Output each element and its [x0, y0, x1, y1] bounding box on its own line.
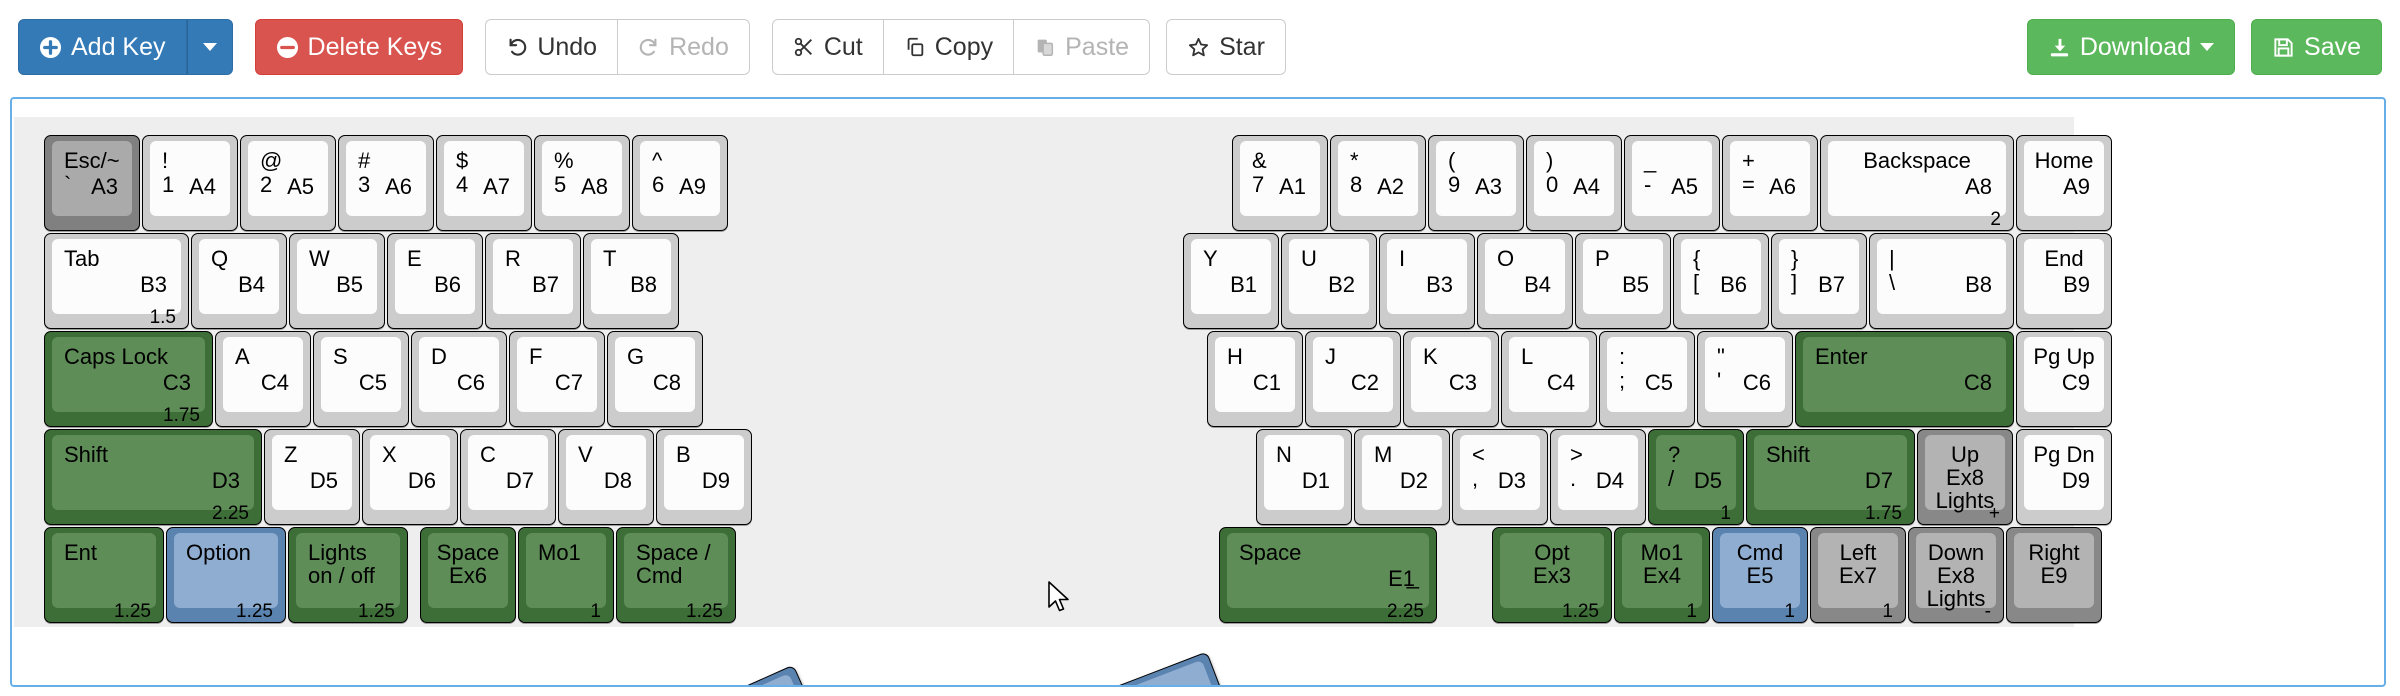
key-legend-top-left: W [309, 247, 330, 270]
keyboard-key[interactable]: )0A4 [1526, 135, 1622, 231]
key-legend-top-left: A [235, 345, 250, 368]
key-top-surface: ^6A9 [640, 141, 720, 216]
key-legend-top-left: : [1619, 345, 1625, 368]
key-legend-top-left: N [1276, 443, 1292, 466]
key-legend-position-code: B6 [1720, 273, 1747, 296]
key-legend-position-code: B5 [1622, 273, 1649, 296]
key-legend-top-left: E [407, 247, 422, 270]
key-legend-position-code: B8 [630, 273, 657, 296]
key-legend-top-left: K [1423, 345, 1438, 368]
keyboard-key[interactable]: UB2 [1281, 233, 1377, 329]
keyboard-key[interactable]: CD7 [460, 429, 556, 525]
key-legend-position-code: D6 [408, 469, 436, 492]
key-legend-bottom-left: / [1668, 467, 1674, 490]
keyboard-key[interactable]: (9A3 [1428, 135, 1524, 231]
star-label: Star [1219, 35, 1265, 60]
add-key-label: Add Key [71, 35, 166, 60]
key-top-surface: KC3 [1411, 337, 1491, 412]
copy-button[interactable]: Copy [883, 19, 1014, 75]
paste-button[interactable]: Paste [1013, 19, 1150, 75]
key-top-surface: Lights on / off [296, 533, 400, 608]
keyboard-key[interactable]: Lights on / off1.25 [288, 527, 408, 623]
key-top-surface: Space / Cmd [624, 533, 728, 608]
key-legend-position-code: B4 [238, 273, 265, 296]
keyboard-key[interactable]: AC4 [215, 331, 311, 427]
keyboard-key[interactable]: JC2 [1305, 331, 1401, 427]
key-legend-top-left: Caps Lock [64, 345, 168, 368]
key-top-surface: WB5 [297, 239, 377, 314]
key-legend-position-code: D3 [212, 469, 240, 492]
keyboard-key[interactable]: Esc/~`A3 [44, 135, 140, 231]
minus-circle-icon [276, 36, 299, 59]
key-legend-top-left: B [676, 443, 691, 466]
key-top-surface [697, 673, 819, 687]
keyboard-key[interactable]: Mo11 [518, 527, 614, 623]
keyboard-key[interactable]: Left Ex71 [1810, 527, 1906, 623]
keyboard-key[interactable]: OB4 [1477, 233, 1573, 329]
key-legend-top-left: L [1521, 345, 1533, 368]
key-legend-bottom-left: 1 [162, 173, 174, 196]
keyboard-key[interactable]: Opt Ex31.25 [1492, 527, 1612, 623]
key-legend-position-code: C6 [457, 371, 485, 394]
keyboard-key[interactable]: YB1 [1183, 233, 1279, 329]
key-top-surface: }]B7 [1779, 239, 1859, 314]
key-legend-position-code: A4 [189, 175, 216, 198]
keyboard-key[interactable]: EndB9 [2016, 233, 2112, 329]
key-legend-top-left: V [578, 443, 593, 466]
paste-icon [1034, 36, 1056, 58]
key-legend-position-code: D7 [506, 469, 534, 492]
key-legend-position-code: A9 [679, 175, 706, 198]
keyboard-board[interactable]: Esc/~`A3!1A4@2A5#3A6$4A7%5A8^6A9&7A1*8A2… [14, 117, 2074, 627]
key-legend-position-code: C6 [1743, 371, 1771, 394]
key-legend-center-top: Opt Ex3 [1500, 541, 1604, 587]
key-legend-center-top: Left Ex7 [1818, 541, 1898, 587]
keyboard-key[interactable]: }]B7 [1771, 233, 1867, 329]
key-legend-top-left: U [1301, 247, 1317, 270]
keyboard-key[interactable]: KC3 [1403, 331, 1499, 427]
keyboard-key[interactable]: Down Ex8 Lights- [1908, 527, 2004, 623]
key-legend-bottom-left: . [1570, 467, 1576, 490]
key-legend-top-left: Esc/~ [64, 149, 120, 172]
key-width-label: 1.5 [150, 307, 176, 329]
layout-editor-canvas[interactable]: Esc/~`A3!1A4@2A5#3A6$4A7%5A8^6A9&7A1*8A2… [10, 97, 2386, 687]
key-legend-bottom-left: ] [1791, 271, 1797, 294]
key-legend-top-left: Shift [64, 443, 108, 466]
key-top-surface: VD8 [566, 435, 646, 510]
key-top-surface: *8A2 [1338, 141, 1418, 216]
key-legend-bottom-left: , [1472, 467, 1478, 490]
key-legend-top-left: < [1472, 443, 1485, 466]
keyboard-key[interactable]: XD6 [362, 429, 458, 525]
key-top-surface: Right E9 [2014, 533, 2094, 608]
key-legend-position-code: A4 [1573, 175, 1600, 198]
keyboard-key[interactable]: TB8 [583, 233, 679, 329]
keyboard-key[interactable]: Right E9 [2006, 527, 2102, 623]
keyboard-key[interactable]: IB3 [1379, 233, 1475, 329]
key-legend-bottom-left: ' [1717, 369, 1721, 392]
key-legend-bottom-left: 2 [260, 173, 272, 196]
key-top-surface: (9A3 [1436, 141, 1516, 216]
clipboard-button-group: Cut Copy Paste [772, 19, 1150, 75]
star-button[interactable]: Star [1166, 19, 1286, 75]
keyboard-key[interactable]: &7A1 [1232, 135, 1328, 231]
key-legend-top-left: ^ [652, 149, 662, 172]
key-top-surface: TB8 [591, 239, 671, 314]
key-legend-bottom-mark: _ [1407, 565, 1419, 588]
key-legend-bottom-left: 6 [652, 173, 664, 196]
keyboard-key[interactable]: Pg DnD9 [2016, 429, 2112, 525]
key-legend-bottom-left: 5 [554, 173, 566, 196]
download-label: Download [2080, 35, 2191, 60]
key-legend-center-top: Down Ex8 Lights [1916, 541, 1996, 610]
key-top-surface: ND1 [1264, 435, 1344, 510]
keyboard-key[interactable]: PB5 [1575, 233, 1671, 329]
keyboard-key[interactable]: <,D3 [1452, 429, 1548, 525]
key-top-surface: OB4 [1485, 239, 1565, 314]
key-legend-position-code: D2 [1400, 469, 1428, 492]
keyboard-key[interactable]: ND1 [1256, 429, 1352, 525]
key-top-surface: MD2 [1362, 435, 1442, 510]
key-legend-position-code: B3 [140, 273, 167, 296]
history-button-group: Undo Redo [485, 19, 750, 75]
keyboard-key[interactable]: $4A7 [436, 135, 532, 231]
keyboard-key[interactable]: Mo1 Ex41 [1614, 527, 1710, 623]
delete-keys-label: Delete Keys [308, 35, 443, 60]
key-legend-position-code: A5 [1671, 175, 1698, 198]
keyboard-key[interactable]: ?/D51 [1648, 429, 1744, 525]
key-legend-top-left: Lights on / off [308, 541, 375, 587]
add-key-button[interactable]: Add Key [18, 19, 187, 75]
key-width-label: 1.25 [236, 601, 273, 623]
key-legend-top-left: ( [1448, 149, 1455, 172]
key-legend-position-code: C5 [359, 371, 387, 394]
cut-label: Cut [824, 35, 863, 60]
floppy-disk-icon [2272, 36, 2295, 59]
key-width-label: 2.25 [1387, 601, 1424, 623]
key-top-surface: ShiftD7 [1754, 435, 1907, 510]
key-width-label: 2.25 [212, 503, 249, 525]
key-legend-top-left: P [1595, 247, 1610, 270]
key-legend-top-left: _ [1644, 149, 1656, 172]
key-legend-position-code: C9 [2062, 371, 2090, 394]
keyboard-key[interactable]: EB6 [387, 233, 483, 329]
keyboard-key[interactable]: WB5 [289, 233, 385, 329]
keyboard-key[interactable]: "'C6 [1697, 331, 1793, 427]
key-width-label: 1.25 [1562, 601, 1599, 623]
keyboard-key[interactable]: #3A6 [338, 135, 434, 231]
key-legend-top-left: Option [186, 541, 251, 564]
key-top-surface: TabB3 [52, 239, 181, 314]
keyboard-key[interactable]: :;C5 [1599, 331, 1695, 427]
keyboard-key[interactable]: |\B8 [1869, 233, 2014, 329]
key-legend-bottom-left: 8 [1350, 173, 1362, 196]
key-legend-center-top: Cmd E5 [1720, 541, 1800, 587]
key-legend-top-left: Y [1203, 247, 1218, 270]
key-legend-top-left: J [1325, 345, 1336, 368]
key-legend-top-left: ) [1546, 149, 1553, 172]
keyboard-key[interactable]: *8A2 [1330, 135, 1426, 231]
key-top-surface: )0A4 [1534, 141, 1614, 216]
key-width-label: 1.75 [1865, 503, 1902, 525]
key-legend-top-left: C [480, 443, 496, 466]
key-top-surface: Pg DnD9 [2024, 435, 2104, 510]
key-legend-top-left: I [1399, 247, 1405, 270]
redo-label: Redo [669, 35, 729, 60]
keyboard-key[interactable]: {[B6 [1673, 233, 1769, 329]
undo-button[interactable]: Undo [485, 19, 618, 75]
key-top-surface: HomeA9 [2024, 141, 2104, 216]
key-top-surface: $4A7 [444, 141, 524, 216]
keyboard-key[interactable]: BD9 [656, 429, 752, 525]
keyboard-key[interactable]: MD2 [1354, 429, 1450, 525]
keyboard-key[interactable]: BackspaceA82 [1820, 135, 2014, 231]
key-top-surface: FC7 [517, 337, 597, 412]
key-top-surface: Space Ex6 [428, 533, 508, 608]
key-top-surface: |\B8 [1877, 239, 2006, 314]
key-legend-bottom-left: 9 [1448, 173, 1460, 196]
keyboard-key[interactable]: Space Ex6 [420, 527, 516, 623]
key-width-label: 1.25 [358, 601, 395, 623]
key-legend-top-left: @ [260, 149, 282, 172]
keyboard-key[interactable]: SpaceE1_2.25 [1219, 527, 1437, 623]
key-top-surface: YB1 [1191, 239, 1271, 314]
key-width-label: 1 [590, 601, 601, 623]
key-legend-position-code: D9 [2062, 469, 2090, 492]
keyboard-key[interactable]: >.D4 [1550, 429, 1646, 525]
keyboard-key[interactable]: RB7 [485, 233, 581, 329]
delete-keys-button[interactable]: Delete Keys [255, 19, 464, 75]
key-legend-position-code: B2 [1328, 273, 1355, 296]
key-legend-position-code: C4 [1547, 371, 1575, 394]
key-top-surface: EB6 [395, 239, 475, 314]
paste-label: Paste [1065, 35, 1129, 60]
key-top-surface: SC5 [321, 337, 401, 412]
key-legend-top-left: Enter [1815, 345, 1868, 368]
download-button[interactable]: Download [2027, 19, 2235, 75]
key-legend-position-code: D1 [1302, 469, 1330, 492]
key-legend-center-top: Pg Dn [2024, 443, 2104, 466]
key-legend-position-code: B7 [1818, 273, 1845, 296]
copy-label: Copy [935, 35, 993, 60]
key-top-surface: BackspaceA8 [1828, 141, 2006, 216]
key-top-surface: @2A5 [248, 141, 328, 216]
keyboard-key[interactable]: TabB31.5 [44, 233, 189, 329]
keyboard-key[interactable]: Caps LockC31.75 [44, 331, 213, 427]
key-top-surface: %5A8 [542, 141, 622, 216]
key-width-label: + [1989, 503, 2000, 525]
key-legend-position-code: D8 [604, 469, 632, 492]
key-legend-top-left: * [1350, 149, 1359, 172]
key-legend-bottom-left: ` [64, 173, 71, 196]
key-legend-top-left: O [1497, 247, 1514, 270]
key-top-surface: Esc/~`A3 [52, 141, 132, 216]
keyboard-key[interactable]: Cmd E51 [1712, 527, 1808, 623]
key-legend-position-code: D7 [1865, 469, 1893, 492]
key-top-surface: RB7 [493, 239, 573, 314]
key-legend-position-code: C1 [1253, 371, 1281, 394]
key-top-surface: XD6 [370, 435, 450, 510]
key-top-surface: EndB9 [2024, 239, 2104, 314]
key-legend-bottom-left: 7 [1252, 173, 1264, 196]
key-top-surface: Left Ex7 [1818, 533, 1898, 608]
key-top-surface: Mo1 Ex4 [1622, 533, 1702, 608]
keyboard-key[interactable]: @2A5 [240, 135, 336, 231]
key-legend-position-code: D4 [1596, 469, 1624, 492]
key-legend-bottom-left: ; [1619, 369, 1625, 392]
keyboard-key[interactable]: +=A6 [1722, 135, 1818, 231]
keyboard-key[interactable]: FC7 [509, 331, 605, 427]
keyboard-key[interactable]: !1A4 [142, 135, 238, 231]
key-legend-position-code: A9 [2063, 175, 2090, 198]
keyboard-key[interactable]: Pg UpC9 [2016, 331, 2112, 427]
keyboard-key[interactable]: ShiftD71.75 [1746, 429, 1915, 525]
key-legend-top-left: Tab [64, 247, 99, 270]
key-top-surface: <,D3 [1460, 435, 1540, 510]
key-width-label: 1 [1882, 601, 1893, 623]
key-legend-bottom-left: - [1644, 173, 1651, 196]
keyboard-key[interactable]: EnterC8 [1795, 331, 2014, 427]
key-width-label: 1.75 [163, 405, 200, 427]
keyboard-key[interactable]: _-A5 [1624, 135, 1720, 231]
key-legend-top-left: > [1570, 443, 1583, 466]
key-legend-bottom-left: 4 [456, 173, 468, 196]
key-top-surface: ZD5 [272, 435, 352, 510]
key-top-surface: HC1 [1215, 337, 1295, 412]
key-top-surface: Ent [52, 533, 156, 608]
copy-icon [904, 36, 926, 58]
keyboard-key[interactable]: Ent1.25 [44, 527, 164, 623]
keyboard-key[interactable]: QB4 [191, 233, 287, 329]
key-top-surface: Option [174, 533, 278, 608]
key-legend-center-top: Mo1 Ex4 [1622, 541, 1702, 587]
keyboard-key[interactable]: %5A8 [534, 135, 630, 231]
key-top-surface: EnterC8 [1803, 337, 2006, 412]
key-legend-top-left: { [1693, 247, 1700, 270]
key-legend-center-top: Up Ex8 Lights [1925, 443, 2005, 512]
key-legend-top-left: % [554, 149, 574, 172]
key-legend-position-code: B8 [1965, 273, 1992, 296]
key-legend-bottom-left: \ [1889, 271, 1895, 294]
keyboard-key[interactable]: ^6A9 [632, 135, 728, 231]
key-legend-top-left: & [1252, 149, 1267, 172]
cut-button[interactable]: Cut [772, 19, 884, 75]
key-legend-top-left: Space [1239, 541, 1301, 564]
key-top-surface: LC4 [1509, 337, 1589, 412]
loose-keyboard-key[interactable] [687, 665, 832, 687]
key-legend-position-code: B3 [1426, 273, 1453, 296]
key-legend-position-code: A6 [1769, 175, 1796, 198]
key-legend-position-code: C2 [1351, 371, 1379, 394]
key-top-surface: BD9 [664, 435, 744, 510]
keyboard-key[interactable]: Space / Cmd1.25 [616, 527, 736, 623]
add-key-dropdown-toggle[interactable] [187, 19, 233, 75]
key-legend-top-left: Mo1 [538, 541, 581, 564]
key-legend-position-code: C5 [1645, 371, 1673, 394]
key-legend-top-left: F [529, 345, 542, 368]
key-legend-top-left: H [1227, 345, 1243, 368]
keyboard-key[interactable]: HomeA9 [2016, 135, 2112, 231]
key-top-surface: :;C5 [1607, 337, 1687, 412]
key-top-surface: UB2 [1289, 239, 1369, 314]
key-legend-position-code: A3 [91, 175, 118, 198]
mouse-cursor [1047, 581, 1073, 615]
key-legend-bottom-left: = [1742, 173, 1755, 196]
chevron-down-icon [2200, 43, 2214, 51]
keyboard-key[interactable]: VD8 [558, 429, 654, 525]
key-legend-position-code: A5 [287, 175, 314, 198]
key-legend-top-left: $ [456, 149, 468, 172]
key-legend-bottom-left: [ [1693, 271, 1699, 294]
key-legend-position-code: A7 [483, 175, 510, 198]
key-top-surface: Mo1 [526, 533, 606, 608]
keyboard-key[interactable]: GC8 [607, 331, 703, 427]
key-top-surface: IB3 [1387, 239, 1467, 314]
key-top-surface: &7A1 [1240, 141, 1320, 216]
key-legend-position-code: C4 [261, 371, 289, 394]
key-top-surface: Cmd E5 [1720, 533, 1800, 608]
key-top-surface: _-A5 [1632, 141, 1712, 216]
key-legend-position-code: A3 [1475, 175, 1502, 198]
key-legend-top-left: D [431, 345, 447, 368]
key-top-surface [1108, 660, 1228, 687]
star-icon [1187, 36, 1210, 59]
key-top-surface: Opt Ex3 [1500, 533, 1604, 608]
key-legend-position-code: A2 [1377, 175, 1404, 198]
keyboard-key[interactable]: SC5 [313, 331, 409, 427]
key-top-surface: SpaceE1_ [1227, 533, 1429, 608]
plus-circle-icon [39, 36, 62, 59]
key-legend-position-code: B9 [2063, 273, 2090, 296]
key-legend-top-left: Space / Cmd [636, 541, 711, 587]
save-label: Save [2304, 35, 2361, 60]
key-legend-position-code: A8 [1965, 175, 1992, 198]
key-width-label: - [1985, 601, 1991, 623]
key-top-surface: GC8 [615, 337, 695, 412]
key-width-label: 1 [1686, 601, 1697, 623]
key-legend-top-left: G [627, 345, 644, 368]
key-width-label: 1 [1784, 601, 1795, 623]
key-top-surface: Pg UpC9 [2024, 337, 2104, 412]
keyboard-key[interactable]: DC6 [411, 331, 507, 427]
key-width-label: 2 [1990, 209, 2001, 231]
key-width-label: 1.25 [114, 601, 151, 623]
key-top-surface: JC2 [1313, 337, 1393, 412]
key-legend-position-code: C3 [163, 371, 191, 394]
key-legend-center-top: End [2024, 247, 2104, 270]
key-legend-bottom-left: 3 [358, 173, 370, 196]
keyboard-key[interactable]: Option1.25 [166, 527, 286, 623]
key-top-surface: CD7 [468, 435, 548, 510]
keyboard-key[interactable]: Up Ex8 Lights+ [1917, 429, 2013, 525]
key-legend-top-left: + [1742, 149, 1755, 172]
keyboard-key[interactable]: ShiftD32.25 [44, 429, 262, 525]
download-icon [2048, 36, 2071, 59]
keyboard-key[interactable]: HC1 [1207, 331, 1303, 427]
key-top-surface: +=A6 [1730, 141, 1810, 216]
keyboard-key[interactable]: ZD5 [264, 429, 360, 525]
redo-button[interactable]: Redo [617, 19, 750, 75]
save-button[interactable]: Save [2251, 19, 2382, 75]
key-legend-position-code: C8 [653, 371, 681, 394]
key-legend-position-code: D5 [310, 469, 338, 492]
key-width-label: 1.25 [686, 601, 723, 623]
key-legend-top-left: R [505, 247, 521, 270]
key-top-surface: ?/D5 [1656, 435, 1736, 510]
key-legend-position-code: C7 [555, 371, 583, 394]
keyboard-key[interactable]: LC4 [1501, 331, 1597, 427]
loose-keyboard-key[interactable] [1099, 651, 1242, 687]
